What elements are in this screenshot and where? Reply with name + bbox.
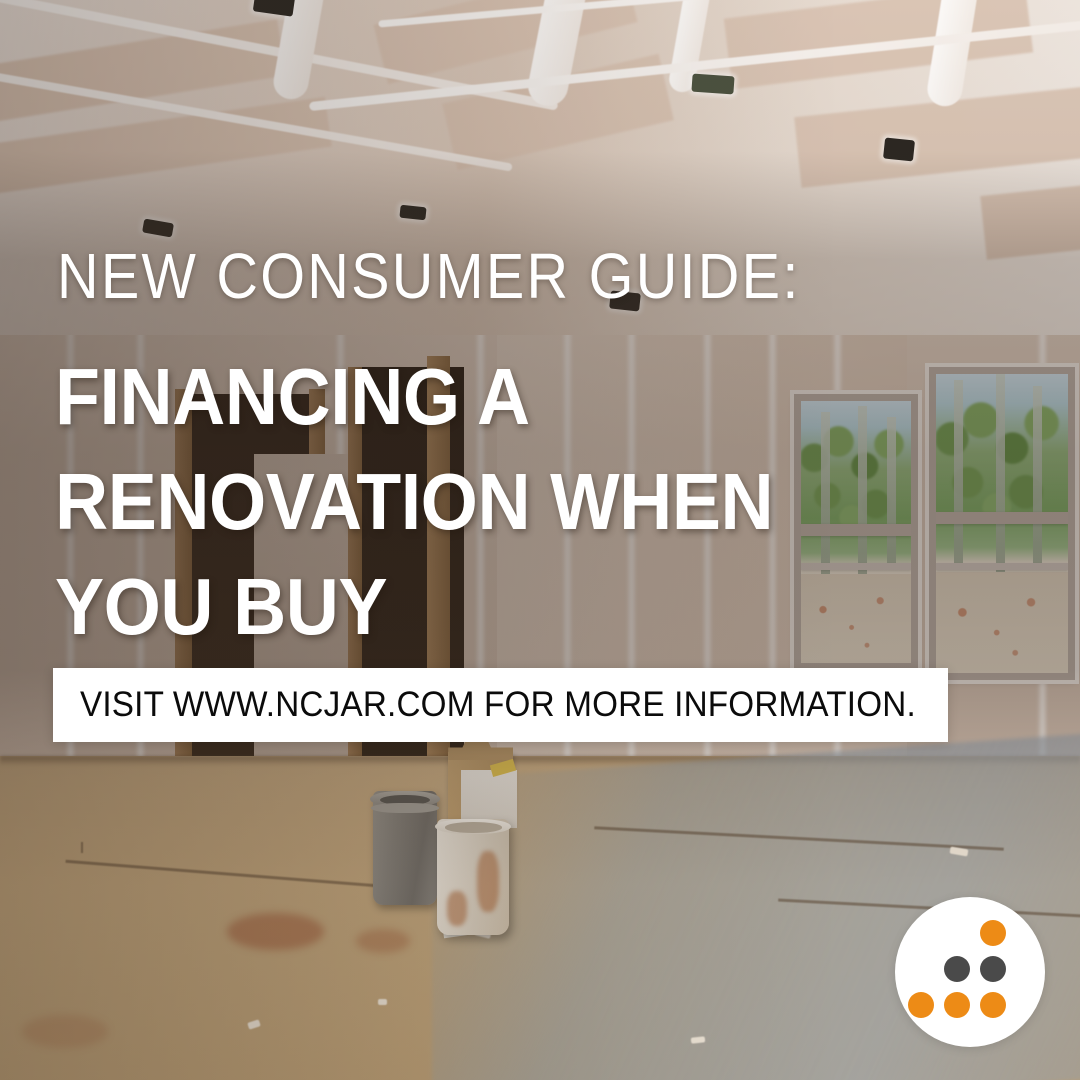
dot-mid-left [944, 956, 970, 982]
headline: FINANCING A RENOVATION WHEN YOU BUY [55, 344, 955, 659]
promo-card: NEW CONSUMER GUIDE: FINANCING A RENOVATI… [0, 0, 1080, 1080]
dot-bottom-left [908, 992, 934, 1018]
kicker-text: NEW CONSUMER GUIDE: [57, 244, 801, 308]
headline-line-2: RENOVATION WHEN [55, 449, 883, 554]
cta-banner[interactable]: VISIT WWW.NCJAR.COM FOR MORE INFORMATION… [53, 668, 948, 742]
dot-top-right [980, 920, 1006, 946]
text-layer: NEW CONSUMER GUIDE: FINANCING A RENOVATI… [0, 0, 1080, 1080]
dot-bottom-right [980, 992, 1006, 1018]
ncjar-logo[interactable] [895, 897, 1045, 1047]
headline-line-3: YOU BUY [55, 554, 883, 659]
dot-mid-right [980, 956, 1006, 982]
dot-bottom-mid [944, 992, 970, 1018]
headline-line-1: FINANCING A [55, 344, 883, 449]
cta-banner-text: VISIT WWW.NCJAR.COM FOR MORE INFORMATION… [80, 685, 916, 725]
